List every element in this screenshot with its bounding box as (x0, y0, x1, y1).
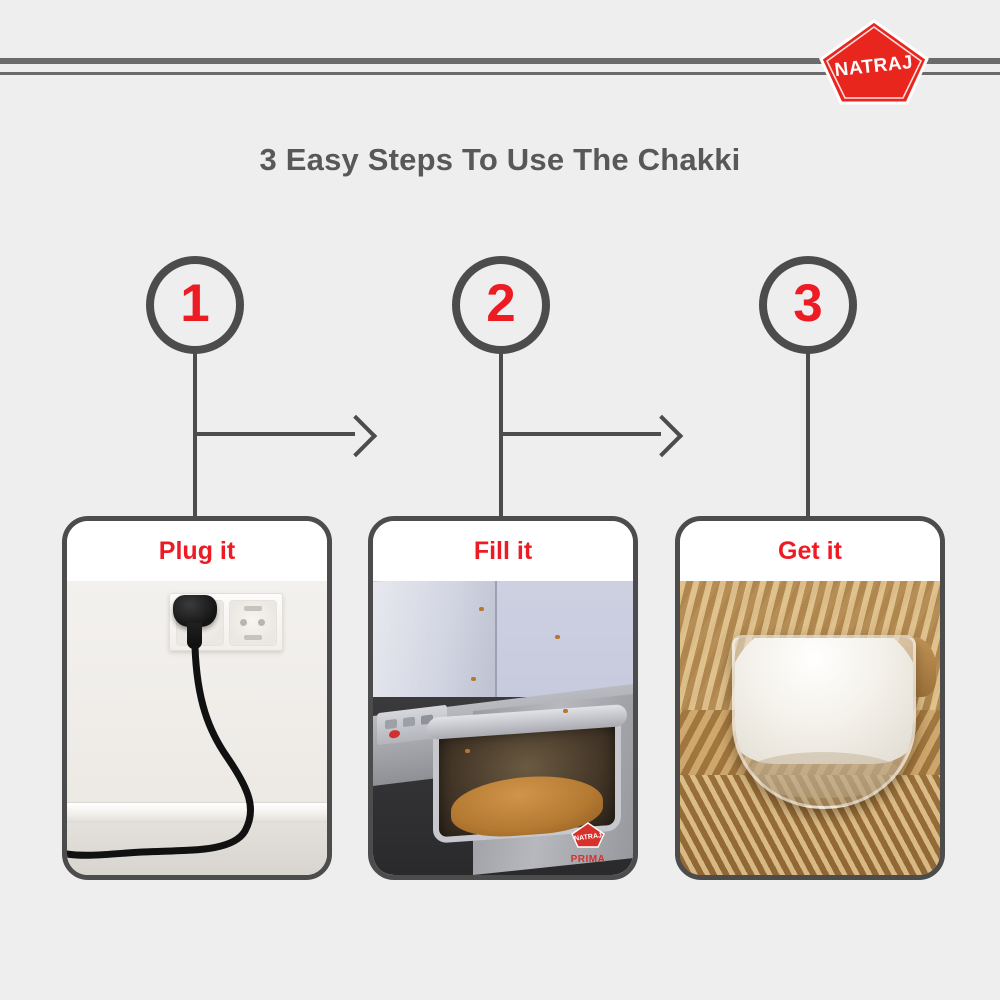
step-photo-3 (680, 581, 940, 875)
step-number-circle-3: 3 (759, 256, 857, 354)
connector-line-1 (193, 352, 197, 520)
grain-speck (555, 635, 560, 639)
connector-line-3 (806, 352, 810, 520)
step-card-1: Plug it (62, 516, 332, 880)
natraj-badge-pentagon-icon: NATRAJ (571, 822, 605, 848)
flour-shadow (743, 752, 903, 798)
power-cord (67, 581, 327, 875)
connector-line-2 (499, 352, 503, 520)
grain-speck (465, 749, 470, 753)
chakki-scene: NATRAJ PRIMA (373, 581, 633, 875)
arrow-step-1-to-2-shaft (193, 432, 355, 436)
step-number-2: 2 (486, 277, 515, 330)
control-button-1 (385, 719, 397, 729)
step-card-3: Get it (675, 516, 945, 880)
flour-heap (732, 635, 916, 764)
infographic-canvas: NATRAJ 3 Easy Steps To Use The Chakki 1 … (0, 0, 1000, 1000)
grain-speck (563, 709, 568, 713)
grain-speck (479, 607, 484, 611)
page-title: 3 Easy Steps To Use The Chakki (0, 142, 1000, 178)
arrow-step-2-to-3-shaft (499, 432, 661, 436)
step-card-2: Fill it (368, 516, 638, 880)
step-number-circle-1: 1 (146, 256, 244, 354)
power-button-red (389, 729, 400, 738)
step-label-1: Plug it (67, 521, 327, 581)
flour-scene (680, 581, 940, 875)
grain-speck (471, 677, 476, 681)
step-label-3: Get it (680, 521, 940, 581)
natraj-prima-badge: NATRAJ PRIMA (563, 822, 613, 865)
badge-model-text: PRIMA (563, 854, 613, 865)
step-photo-2: NATRAJ PRIMA (373, 581, 633, 875)
step-photo-1 (67, 581, 327, 875)
step-number-circle-2: 2 (452, 256, 550, 354)
arrow-right-icon-1 (335, 415, 377, 457)
step-number-3: 3 (793, 277, 822, 330)
arrow-right-icon-2 (641, 415, 683, 457)
step-number-1: 1 (180, 277, 209, 330)
step-label-2: Fill it (373, 521, 633, 581)
control-button-2 (403, 717, 415, 727)
natraj-logo: NATRAJ (818, 18, 930, 106)
glass-bowl (732, 635, 916, 809)
